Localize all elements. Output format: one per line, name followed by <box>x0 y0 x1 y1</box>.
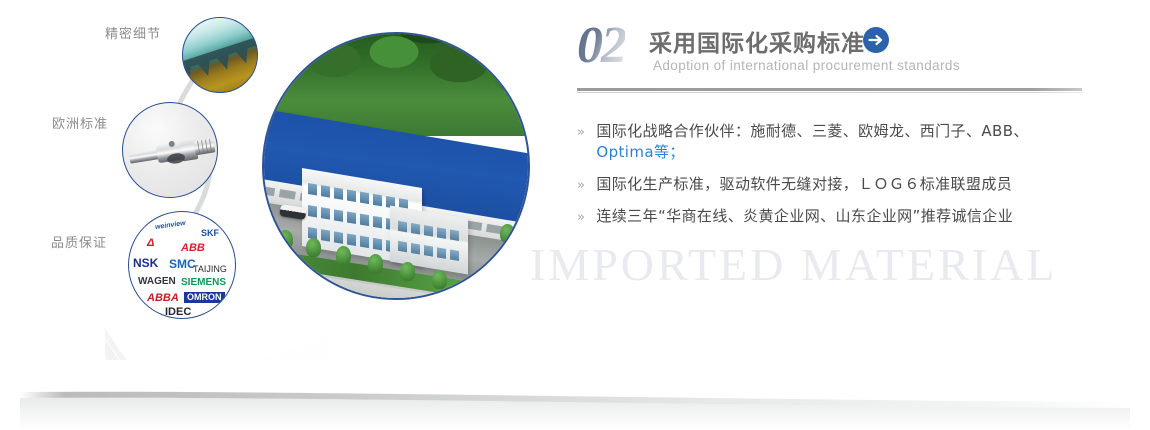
bullet-marker-icon: » <box>577 178 585 193</box>
bullet-item: »连续三年“华商在线、炎黄企业网、山东企业网”推荐诚信企业 <box>577 205 1082 226</box>
factory-aerial-photo-circle <box>262 32 530 300</box>
brand-logo-weinview: weinview <box>155 220 186 231</box>
brand-logo-wagen: WAGEN <box>138 277 176 287</box>
office-window <box>373 194 382 207</box>
bottom-shadow-wave <box>0 378 1150 430</box>
annex-window <box>398 241 407 253</box>
office-window <box>373 216 382 229</box>
feature-bullet-list: »国际化战略合作伙伴：施耐德、三菱、欧姆龙、西门子、ABB、Optima等；»国… <box>577 120 1082 237</box>
bullet-text-accent: Optima等； <box>596 143 684 161</box>
gear-teeth-detail-circle <box>182 17 258 93</box>
office-window <box>334 187 343 200</box>
bullet-text: 连续三年“华商在线、炎黄企业网、山东企业网”推荐诚信企业 <box>596 205 1013 226</box>
label-quality-assurance: 品质保证 <box>51 232 107 251</box>
page-title: 采用国际化采购标准 <box>649 24 865 58</box>
label-precision-detail: 精密细节 <box>105 23 161 42</box>
ball-screw-circle <box>122 102 218 198</box>
annex-window <box>450 230 459 242</box>
factory-window <box>262 186 275 197</box>
annex-window <box>450 250 459 262</box>
brand-logo-smc: SMC <box>169 258 196 270</box>
forest-canopy <box>262 32 530 127</box>
bush <box>516 248 530 267</box>
section-number: 02 <box>577 20 625 72</box>
brand-logo-abba: ABBA <box>147 293 179 304</box>
label-european-standard: 欧洲标准 <box>52 113 108 132</box>
bush <box>464 276 479 295</box>
bush <box>500 224 515 243</box>
divider-line-thick <box>577 88 1082 91</box>
bullet-marker-icon: » <box>577 210 585 225</box>
office-window <box>347 211 356 224</box>
bullet-text-main: 国际化生产标准，驱动软件无缝对接，ＬＯＧ６标准联盟成员 <box>596 175 1012 193</box>
annex-window <box>437 247 446 259</box>
bullet-text: 国际化生产标准，驱动软件无缝对接，ＬＯＧ６标准联盟成员 <box>596 173 1012 194</box>
brand-logo-taijing: TAIJING <box>193 265 227 274</box>
brand-logos-circle: weinviewSKFΔABBNSKSMCTAIJINGWAGENSIEMENS… <box>128 211 236 319</box>
brand-logo-abb: ABB <box>181 243 205 254</box>
annex-window <box>398 221 407 233</box>
page-subtitle: Adoption of international procurement st… <box>653 58 960 73</box>
office-window <box>347 233 356 246</box>
promo-banner: 精密细节 欧洲标准 品质保证 <box>0 0 1150 430</box>
ball-screw-icon <box>127 132 216 171</box>
annex-window <box>424 225 433 237</box>
header-divider <box>577 88 1082 93</box>
office-window <box>308 205 317 218</box>
bullet-text: 国际化战略合作伙伴：施耐德、三菱、欧姆龙、西门子、ABB、Optima等； <box>596 120 1082 162</box>
office-window <box>360 214 369 227</box>
brand-logo-idec: IDEC <box>165 307 191 318</box>
office-window <box>308 183 317 196</box>
brand-logo-siemens: SIEMENS <box>181 278 226 288</box>
bullet-text-main: 连续三年“华商在线、炎黄企业网、山东企业网”推荐诚信企业 <box>596 207 1013 225</box>
bush <box>368 254 383 273</box>
bush <box>278 230 293 249</box>
divider-line-thin <box>577 92 1082 93</box>
factory-window <box>279 189 296 200</box>
office-window <box>334 231 343 244</box>
annex-window <box>437 227 446 239</box>
bullet-item: »国际化生产标准，驱动软件无缝对接，ＬＯＧ６标准联盟成员 <box>577 173 1082 194</box>
office-window <box>321 229 330 242</box>
office-window <box>321 207 330 220</box>
brand-logo-delta: Δ <box>147 238 154 249</box>
bush <box>432 270 447 289</box>
bullet-item: »国际化战略合作伙伴：施耐德、三菱、欧姆龙、西门子、ABB、Optima等； <box>577 120 1082 162</box>
bush <box>400 262 415 281</box>
annex-window <box>411 223 420 235</box>
brand-logo-list: weinviewSKFΔABBNSKSMCTAIJINGWAGENSIEMENS… <box>129 212 235 318</box>
annex-window <box>424 245 433 257</box>
office-window <box>360 236 369 249</box>
annex-window <box>411 243 420 255</box>
office-window <box>321 185 330 198</box>
brand-logo-skf: SKF <box>201 229 219 238</box>
content-column: 02 采用国际化采购标准 Adoption of international p… <box>577 18 1087 86</box>
office-window <box>373 238 382 251</box>
bush <box>496 280 511 299</box>
section-header: 02 采用国际化采购标准 Adoption of international p… <box>577 18 1087 86</box>
bush <box>336 246 351 265</box>
bullet-marker-icon: » <box>577 125 585 140</box>
watermark-text: IMPORTED MATERIAL <box>530 238 1057 291</box>
brand-logo-omron: OMRON <box>184 292 225 303</box>
office-window <box>334 209 343 222</box>
bullet-text-main: 国际化战略合作伙伴：施耐德、三菱、欧姆龙、西门子、ABB、 <box>596 122 1028 140</box>
arrow-right-circle-icon[interactable] <box>862 26 890 54</box>
bush <box>306 238 321 257</box>
brand-logo-nsk: NSK <box>133 257 158 269</box>
office-window <box>347 189 356 202</box>
office-window <box>360 192 369 205</box>
